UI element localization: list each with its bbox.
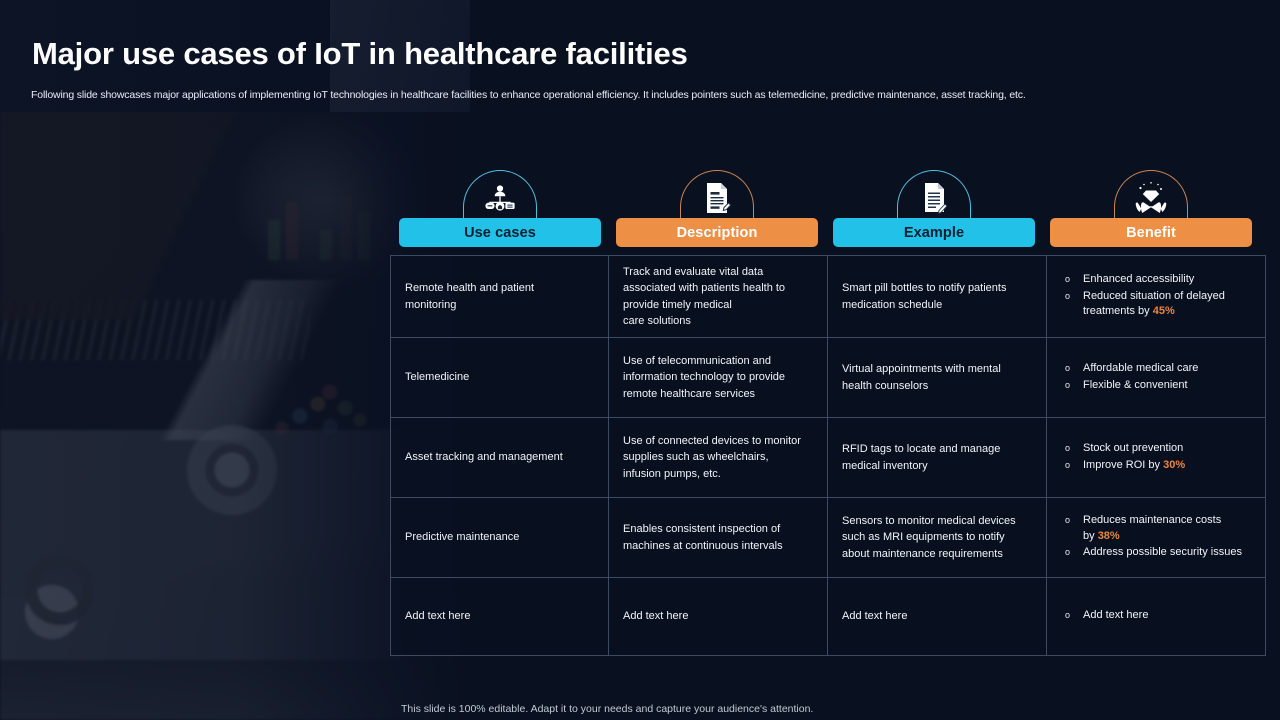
- benefit-list: Stock out preventionImprove ROI by 30%: [1061, 441, 1251, 473]
- cell-text: Telemedicine: [405, 369, 594, 385]
- cell-use-case: Telemedicine: [391, 338, 609, 418]
- document-pen-icon: [916, 180, 952, 216]
- cell-example: Virtual appointments with mental health …: [828, 338, 1047, 418]
- tab-label-benefit[interactable]: Benefit: [1050, 218, 1252, 247]
- cell-text: Add text here: [405, 608, 594, 624]
- page-title: Major use cases of IoT in healthcare fac…: [32, 36, 688, 72]
- cell-use-case: Add text here: [391, 578, 609, 656]
- benefit-metric: 45%: [1153, 305, 1175, 317]
- slide-canvas: Major use cases of IoT in healthcare fac…: [0, 0, 1280, 720]
- table-row[interactable]: Asset tracking and management Use of con…: [391, 418, 1266, 498]
- network-person-icon: [482, 180, 518, 216]
- benefit-list: Enhanced accessibilityReduced situation …: [1061, 272, 1251, 320]
- cell-benefit: Stock out preventionImprove ROI by 30%: [1047, 418, 1266, 498]
- cell-text: Track and evaluate vital data associated…: [623, 264, 813, 329]
- benefit-item: Improve ROI by 30%: [1061, 458, 1251, 474]
- cell-example: Sensors to monitor medical devices such …: [828, 498, 1047, 578]
- cell-text: Remote health and patient monitoring: [405, 280, 594, 313]
- table-row[interactable]: Remote health and patient monitoring Tra…: [391, 256, 1266, 338]
- cell-description: Enables consistent inspection of machine…: [609, 498, 828, 578]
- tab-label-example[interactable]: Example: [833, 218, 1035, 247]
- benefit-metric: 38%: [1098, 530, 1120, 542]
- table-body: Remote health and patient monitoring Tra…: [391, 256, 1266, 656]
- cell-text: RFID tags to locate and manage medical i…: [842, 441, 1032, 474]
- table-row[interactable]: Telemedicine Use of telecommunication an…: [391, 338, 1266, 418]
- column-header-example[interactable]: Example: [833, 170, 1035, 250]
- tab-label-description[interactable]: Description: [616, 218, 818, 247]
- diamond-hands-icon: [1133, 180, 1169, 216]
- cell-benefit: Reduces maintenance costs by 38%Address …: [1047, 498, 1266, 578]
- benefit-item: Add text here: [1061, 608, 1251, 624]
- column-headers: Use cases Description: [390, 170, 1265, 250]
- cell-text: Use of connected devices to monitor supp…: [623, 433, 813, 482]
- benefit-list: Add text here: [1061, 608, 1251, 624]
- cell-text: Use of telecommunication and information…: [623, 353, 813, 402]
- column-header-description[interactable]: Description: [616, 170, 818, 250]
- cell-use-case: Predictive maintenance: [391, 498, 609, 578]
- benefit-item: Enhanced accessibility: [1061, 272, 1251, 288]
- benefit-item: Stock out prevention: [1061, 441, 1251, 457]
- cell-use-case: Remote health and patient monitoring: [391, 256, 609, 338]
- benefit-item: Reduced situation of delayed treatments …: [1061, 289, 1251, 320]
- benefit-list: Affordable medical careFlexible & conven…: [1061, 361, 1251, 393]
- cell-text: Smart pill bottles to notify patients me…: [842, 280, 1032, 313]
- cell-text: Asset tracking and management: [405, 449, 594, 465]
- benefit-list: Reduces maintenance costs by 38%Address …: [1061, 513, 1251, 561]
- tab-label-use-cases[interactable]: Use cases: [399, 218, 601, 247]
- cell-text: Add text here: [842, 608, 1032, 624]
- table-row[interactable]: Predictive maintenance Enables consisten…: [391, 498, 1266, 578]
- cell-text: Sensors to monitor medical devices such …: [842, 513, 1032, 562]
- cell-description: Add text here: [609, 578, 828, 656]
- cell-text: Enables consistent inspection of machine…: [623, 521, 813, 554]
- benefit-item: Flexible & convenient: [1061, 378, 1251, 394]
- table-row[interactable]: Add text here Add text here Add text her…: [391, 578, 1266, 656]
- cell-benefit: Add text here: [1047, 578, 1266, 656]
- cell-description: Use of connected devices to monitor supp…: [609, 418, 828, 498]
- benefit-item: Address possible security issues: [1061, 545, 1251, 561]
- benefit-metric: 30%: [1163, 459, 1185, 471]
- cell-example: RFID tags to locate and manage medical i…: [828, 418, 1047, 498]
- cell-description: Track and evaluate vital data associated…: [609, 256, 828, 338]
- cell-description: Use of telecommunication and information…: [609, 338, 828, 418]
- column-header-benefit[interactable]: Benefit: [1050, 170, 1252, 250]
- column-header-use-cases[interactable]: Use cases: [399, 170, 601, 250]
- footer-note: This slide is 100% editable. Adapt it to…: [401, 703, 813, 715]
- cell-benefit: Enhanced accessibilityReduced situation …: [1047, 256, 1266, 338]
- cell-benefit: Affordable medical careFlexible & conven…: [1047, 338, 1266, 418]
- use-cases-table: Remote health and patient monitoring Tra…: [390, 255, 1266, 656]
- cell-text: Predictive maintenance: [405, 529, 594, 545]
- cell-text: Virtual appointments with mental health …: [842, 361, 1032, 394]
- benefit-item: Affordable medical care: [1061, 361, 1251, 377]
- document-icon: [699, 180, 735, 216]
- cell-example: Smart pill bottles to notify patients me…: [828, 256, 1047, 338]
- cell-use-case: Asset tracking and management: [391, 418, 609, 498]
- cell-example: Add text here: [828, 578, 1047, 656]
- benefit-item: Reduces maintenance costs by 38%: [1061, 513, 1251, 544]
- page-subtitle: Following slide showcases major applicat…: [31, 89, 1026, 101]
- cell-text: Add text here: [623, 608, 813, 624]
